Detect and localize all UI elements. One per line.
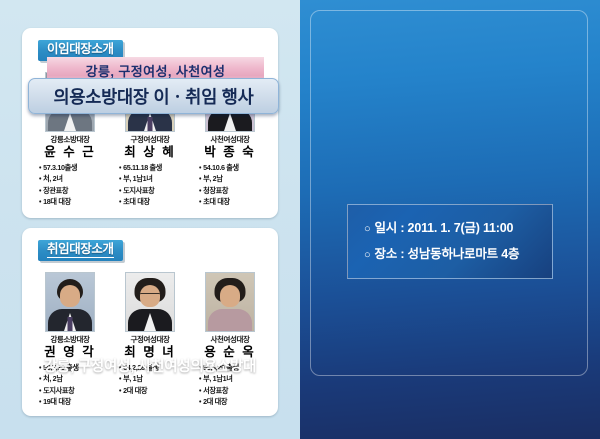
person-name: 윤 수 근 <box>32 145 108 161</box>
person-rank: 강릉소방대장 <box>32 335 108 344</box>
person-photo <box>205 272 255 332</box>
circle-bullet-icon: ○ <box>364 223 370 235</box>
event-location-text: 장소 : 성남동하나로마트 4층 <box>374 247 519 261</box>
person-card: 강릉소방대장 권 영 각 56,7,30 출생 처, 2남 도지사표창 19대 … <box>32 272 108 409</box>
incoming-people-row: 강릉소방대장 권 영 각 56,7,30 출생 처, 2남 도지사표창 19대 … <box>30 272 270 409</box>
event-datetime-text: 일시 : 2011. 1. 7(금) 11:00 <box>374 221 513 235</box>
uniform-shape <box>208 309 252 331</box>
person-rank: 구정여성대장 <box>112 135 188 144</box>
section-badge-incoming-label: 취임대장소개 <box>47 242 114 258</box>
fact-item: 도지사표창 <box>39 386 108 398</box>
event-title-box: 의용소방대장 이ㆍ취임 행사 <box>28 78 279 114</box>
fact-item: 서장표창 <box>199 386 268 398</box>
tie-shape <box>68 317 73 331</box>
fact-item: 54.10.6 출생 <box>199 163 268 175</box>
person-name: 최 상 혜 <box>112 145 188 161</box>
glasses-icon <box>140 293 161 299</box>
person-photo <box>45 272 95 332</box>
event-datetime-line: ○일시 : 2011. 1. 7(금) 11:00 <box>364 216 552 242</box>
fact-item: 65.11.18 출생 <box>119 163 188 175</box>
fact-item: 18대 대장 <box>39 197 108 209</box>
event-title-text: 의용소방대장 이ㆍ취임 행사 <box>53 84 253 109</box>
organization-footer: 강릉, 구정여성, 사천여성의용소방대 <box>0 355 300 376</box>
person-card: 구정여성대장 최 명 녀 64,2,28 출생 부, 1남 2대 대장 <box>112 272 188 397</box>
fact-item: 57.3.10출생 <box>39 163 108 175</box>
fact-item: 부, 2남 <box>199 174 268 186</box>
person-facts: 57.3.10출생 처, 2녀 장관표창 18대 대장 <box>32 163 108 209</box>
circle-bullet-icon: ○ <box>364 249 370 261</box>
person-rank: 구정여성대장 <box>112 335 188 344</box>
person-photo <box>125 272 175 332</box>
event-location-line: ○장소 : 성남동하나로마트 4층 <box>364 242 552 268</box>
fact-item: 장관표창 <box>39 186 108 198</box>
person-facts: 65.11.18 출생 부, 1남1녀 도지사표창 초대 대장 <box>112 163 188 209</box>
event-info-box: ○일시 : 2011. 1. 7(금) 11:00 ○장소 : 성남동하나로마트… <box>347 204 553 279</box>
incoming-chiefs-card: 취임대장소개 강릉소방대장 권 영 각 56,7,30 출생 처, <box>22 228 278 416</box>
fact-item: 19대 대장 <box>39 397 108 409</box>
fact-item: 도지사표창 <box>119 186 188 198</box>
fact-item: 2대 대장 <box>119 386 188 398</box>
person-rank: 사천여성대장 <box>192 335 268 344</box>
fact-item: 초대 대장 <box>199 197 268 209</box>
person-facts: 54.10.6 출생 부, 2남 청장표창 초대 대장 <box>192 163 268 209</box>
fact-item: 부, 1남1녀 <box>119 174 188 186</box>
organization-footer-text: 강릉, 구정여성, 사천여성의용소방대 <box>44 359 256 375</box>
section-badge-outgoing-label: 이임대장소개 <box>47 42 114 58</box>
person-card: 사천여성대장 용 순 옥 55,4,29 출생 부, 1남1녀 서장표창 2대 … <box>192 272 268 409</box>
fact-item: 2대 대장 <box>199 397 268 409</box>
fact-item: 청장표창 <box>199 186 268 198</box>
event-subtitle-text: 강릉, 구정여성, 사천여성 <box>86 61 226 80</box>
poster-canvas: 이임대장소개 강릉소방대장 윤 수 근 57.3.10출생 처, 2녀 <box>0 0 600 439</box>
fact-item: 초대 대장 <box>119 197 188 209</box>
person-rank: 사천여성대장 <box>192 135 268 144</box>
person-name: 박 종 숙 <box>192 145 268 161</box>
face-shape <box>60 285 80 307</box>
person-rank: 강릉소방대장 <box>32 135 108 144</box>
tie-shape <box>148 117 153 131</box>
face-shape <box>220 285 240 307</box>
fact-item: 처, 2녀 <box>39 174 108 186</box>
section-badge-incoming: 취임대장소개 <box>38 240 123 261</box>
decorative-frame <box>310 10 588 376</box>
